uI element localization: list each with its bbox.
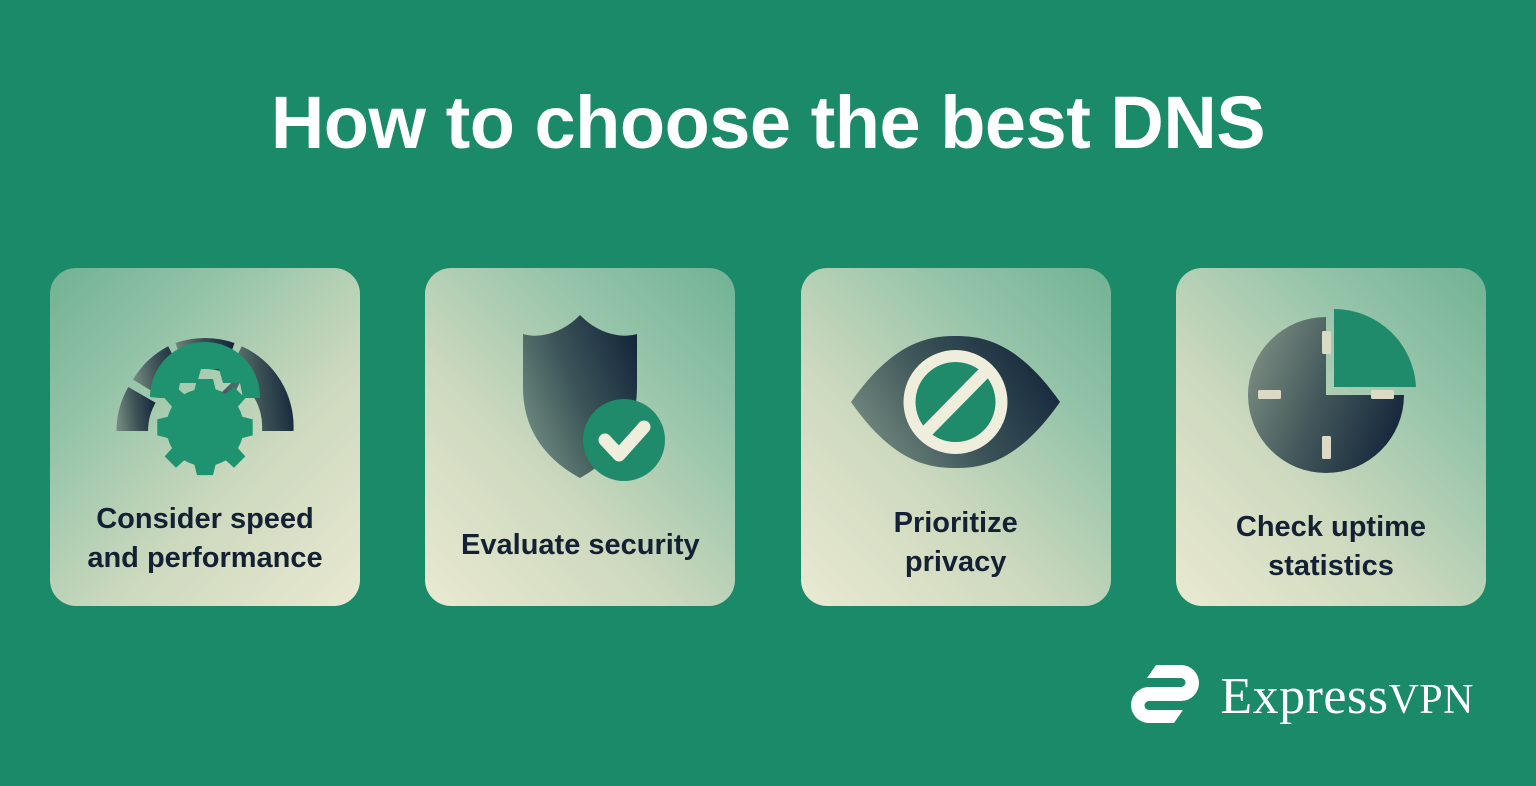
- card-label: Prioritizeprivacy: [801, 504, 1111, 581]
- card-evaluate-security[interactable]: Evaluate security: [425, 268, 735, 606]
- expressvpn-wordmark: ExpressVPN: [1220, 671, 1474, 723]
- card-label: Evaluate security: [425, 526, 735, 565]
- clock-pie-icon: [1176, 298, 1486, 488]
- eye-blocked-icon: [801, 322, 1111, 482]
- card-label: Check uptimestatistics: [1176, 508, 1486, 585]
- expressvpn-logo[interactable]: ExpressVPN: [1126, 663, 1474, 730]
- card-label: Consider speedand performance: [50, 500, 360, 577]
- expressvpn-e-mark-icon: [1126, 663, 1204, 730]
- speedometer-gear-icon: [50, 310, 360, 480]
- card-consider-speed[interactable]: Consider speedand performance: [50, 268, 360, 606]
- card-check-uptime[interactable]: Check uptimestatistics: [1176, 268, 1486, 606]
- shield-check-icon: [425, 306, 735, 486]
- card-prioritize-privacy[interactable]: Prioritizeprivacy: [801, 268, 1111, 606]
- card-row: Consider speedand performance: [50, 268, 1486, 606]
- page-title: How to choose the best DNS: [0, 86, 1536, 160]
- infographic-canvas: How to choose the best DNS: [0, 0, 1536, 786]
